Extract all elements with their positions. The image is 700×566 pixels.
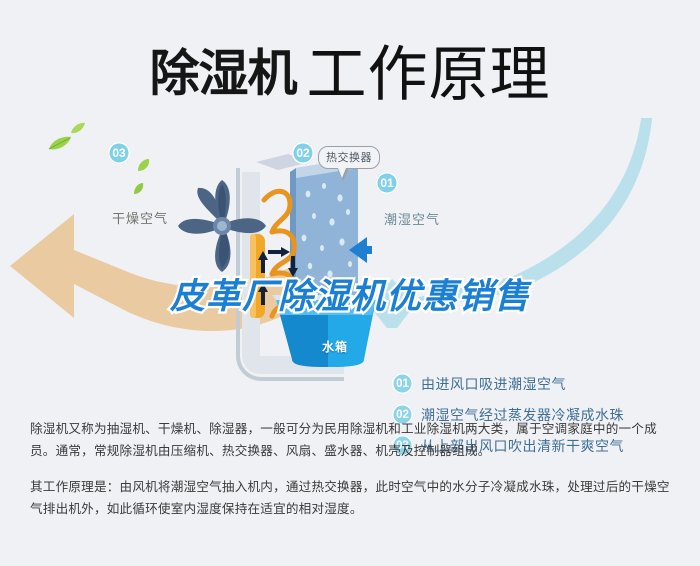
leaf-icon	[48, 136, 72, 152]
step-label: 由进风口吸进潮湿空气	[421, 374, 566, 394]
description-paragraph-1: 除湿机又称为抽湿机、干燥机、除湿器，一般可分为民用除湿机和工业除湿机两大类，属于…	[30, 418, 675, 462]
water-tank-label: 水箱	[322, 338, 348, 355]
page-title-primary: 除湿机	[150, 45, 297, 103]
page-title-secondary: 工作原理	[307, 41, 551, 108]
illustration-stage: 水箱 03 02 01 干燥空气 潮湿空气 热交换器 01 由进风口吸进潮湿空气…	[0, 110, 700, 405]
leaf-icon	[136, 158, 151, 172]
list-item: 01 由进风口吸进潮湿空气	[392, 368, 692, 399]
humid-air-label: 潮湿空气	[384, 209, 440, 228]
illustration-badge-heat-exchanger: 02	[292, 142, 314, 164]
dry-air-label: 干燥空气	[112, 208, 168, 227]
fan-icon	[168, 172, 276, 280]
leaf-icon	[70, 122, 86, 135]
leaf-icon	[132, 182, 145, 195]
watermark-text: 皮革厂除湿机优惠销售	[0, 268, 700, 319]
illustration-badge-dry-air: 03	[108, 142, 130, 164]
page-title: 除湿机工作原理	[0, 26, 700, 113]
infographic-page: 除湿机工作原理	[0, 0, 700, 566]
description-block: 除湿机又称为抽湿机、干燥机、除湿器，一般可分为民用除湿机和工业除湿机两大类，属于…	[30, 418, 675, 520]
illustration-badge-humid-air: 01	[376, 172, 398, 194]
description-paragraph-2: 其工作原理是：由风机将潮湿空气抽入机内，通过热交换器，此时空气中的水分子冷凝成水…	[30, 476, 675, 520]
heat-exchanger-callout: 热交换器	[318, 146, 380, 169]
step-badge: 01	[392, 373, 413, 394]
